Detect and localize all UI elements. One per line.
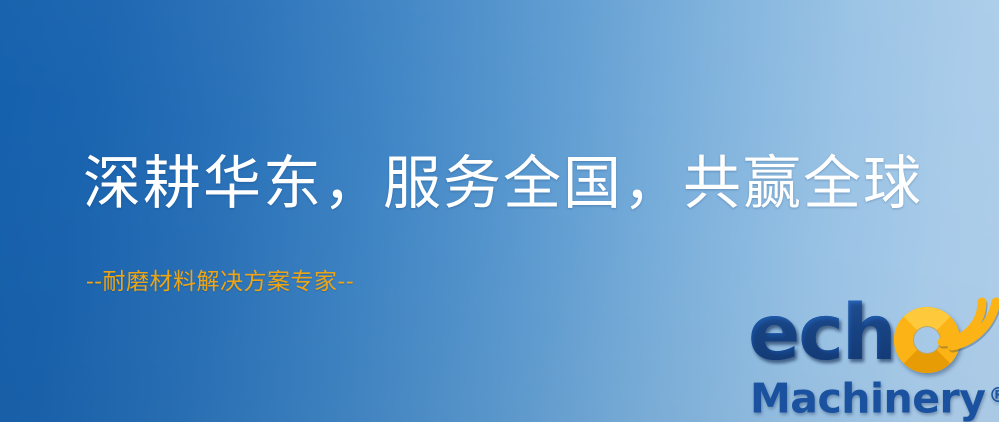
logo-tagline: Machinery® [750, 368, 999, 422]
banner-headline: 深耕华东，服务全国，共赢全球 [83, 152, 923, 214]
company-logo: ech ech Machinery® [748, 296, 999, 422]
logo-wordmark: ech ech [748, 296, 895, 372]
banner-subtitle: --耐磨材料解决方案专家-- [86, 268, 354, 296]
logo-text-ech: ech [748, 296, 895, 372]
promo-banner: 深耕华东，服务全国，共赢全球 --耐磨材料解决方案专家-- ech ech Ma… [0, 0, 999, 422]
logo-tagline-text: Machinery [750, 375, 985, 422]
signal-arcs-icon [934, 288, 999, 358]
registered-trademark-icon: ® [988, 383, 999, 407]
